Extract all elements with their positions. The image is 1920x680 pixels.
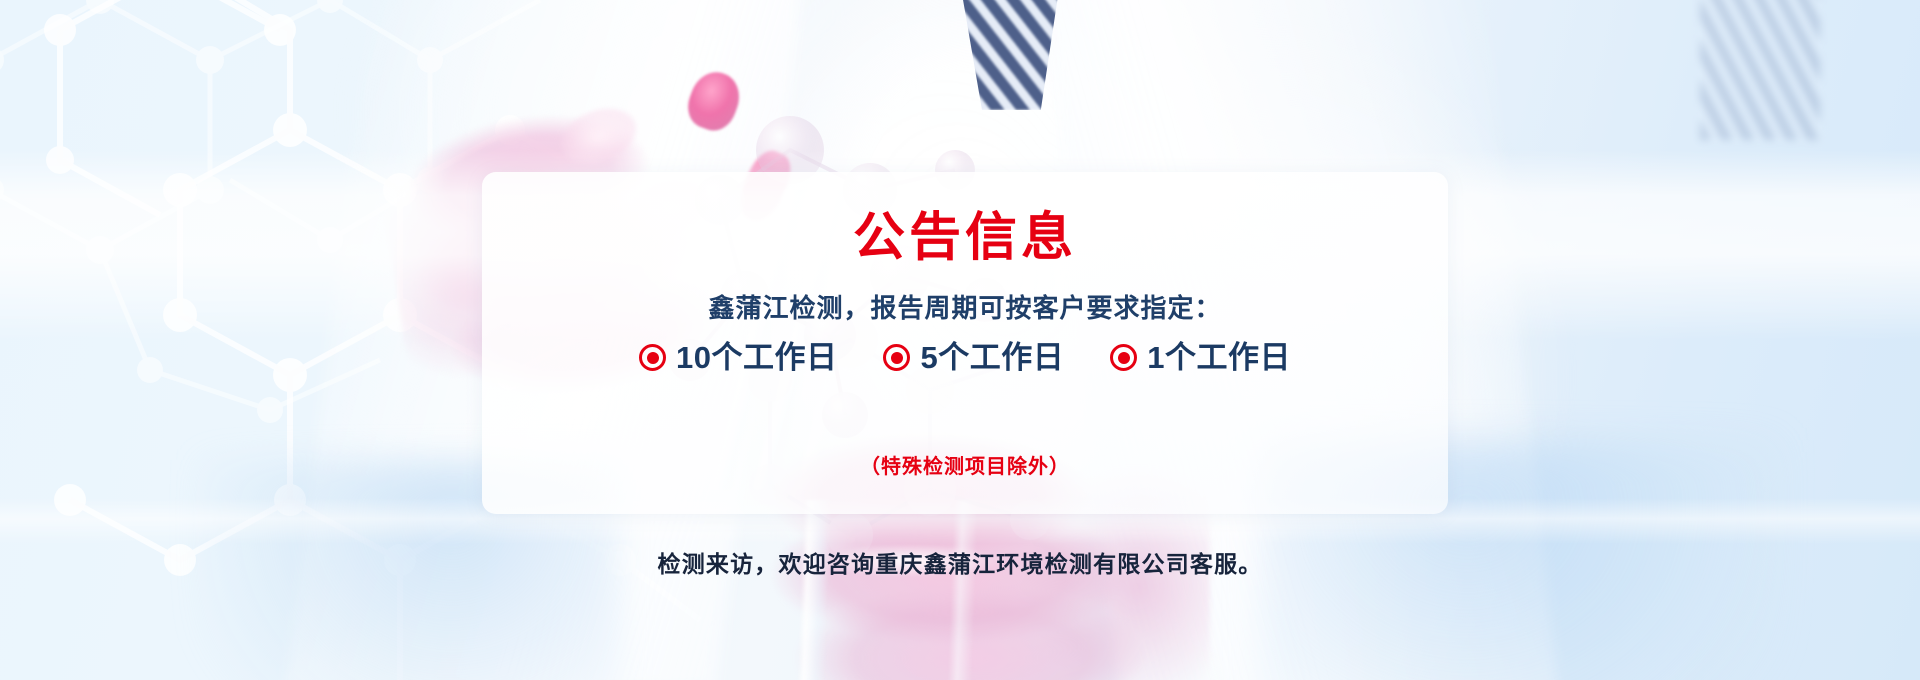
glass-beaker (770, 500, 1070, 680)
pipette-bulb-icon (682, 66, 747, 137)
exclusion-note: （特殊检测项目除外） (482, 450, 1448, 479)
option-10-working-days[interactable]: 10个工作日 (639, 342, 837, 373)
option-5-working-days[interactable]: 5个工作日 (883, 342, 1064, 373)
page-title: 公告信息 (482, 195, 1448, 270)
striped-tie (940, 0, 1080, 110)
radio-filled-icon[interactable] (1110, 344, 1137, 371)
fingernail-highlight-1 (553, 98, 644, 174)
report-cycle-options: 10个工作日 5个工作日 1个工作日 (482, 342, 1448, 373)
option-1-working-day[interactable]: 1个工作日 (1110, 342, 1291, 373)
contact-footer-text: 检测来访，欢迎咨询重庆鑫蒲江环境检测有限公司客服。 (0, 545, 1920, 579)
option-label: 5个工作日 (920, 342, 1064, 373)
announcement-subtitle: 鑫蒲江检测，报告周期可按客户要求指定： (482, 288, 1448, 325)
radio-filled-icon[interactable] (639, 344, 666, 371)
announcement-card: 公告信息 鑫蒲江检测，报告周期可按客户要求指定： 10个工作日 5个工作日 1个… (482, 172, 1448, 514)
striped-tie-right (1700, 0, 1820, 140)
radio-filled-icon[interactable] (883, 344, 910, 371)
announcement-banner: 公告信息 鑫蒲江检测，报告周期可按客户要求指定： 10个工作日 5个工作日 1个… (0, 0, 1920, 680)
option-label: 1个工作日 (1147, 342, 1291, 373)
option-label: 10个工作日 (676, 342, 837, 373)
